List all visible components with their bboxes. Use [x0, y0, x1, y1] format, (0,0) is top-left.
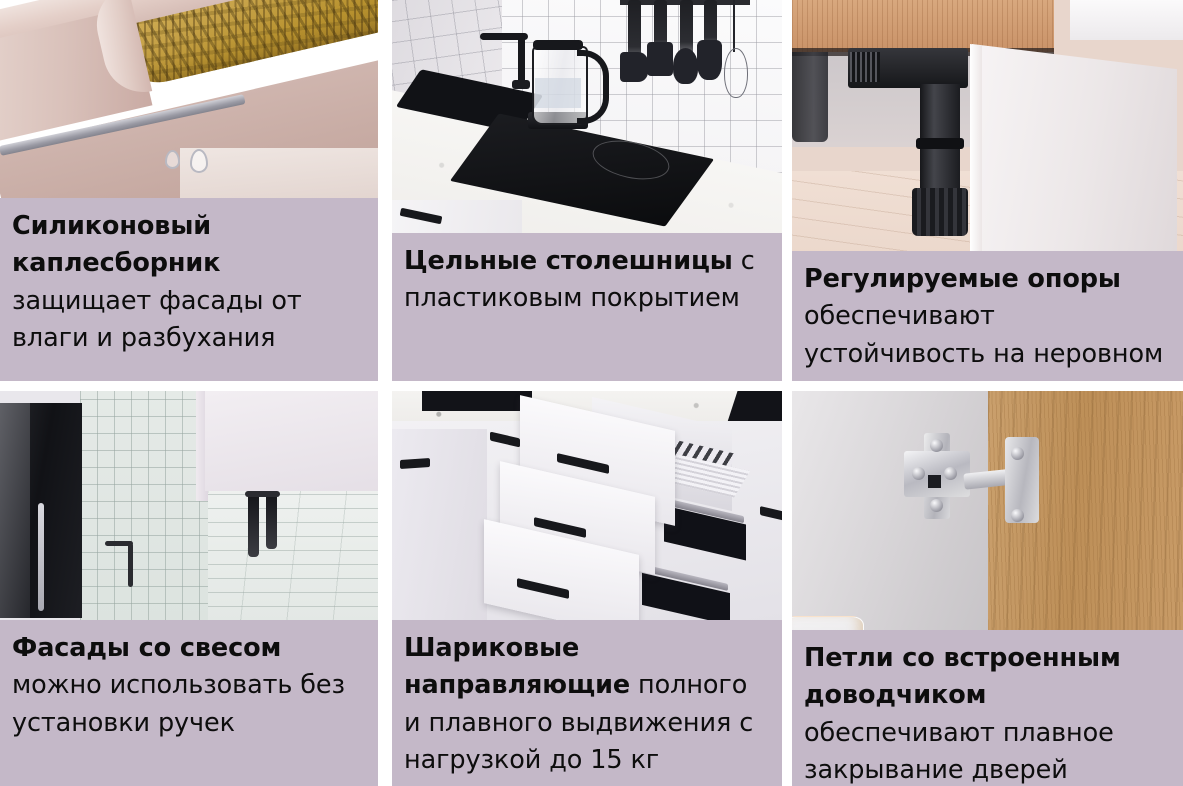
turner-head: [647, 42, 673, 76]
leg-foot: [912, 188, 968, 236]
water-drop-icon: [165, 150, 180, 169]
screw-icon: [912, 467, 925, 480]
secondary-cabinet-leg: [792, 52, 828, 142]
card-caption: Регулируемые опоры обеспечивают устойчив…: [792, 251, 1183, 381]
caption-rest-text: обеспечивают устойчивость на неровном по…: [804, 301, 1163, 381]
caption-rest-text: обеспечивают плавное закрывание дверей: [804, 718, 1114, 785]
feature-card-soft-close-hinges[interactable]: Петли со встроенным доводчиком обеспечив…: [792, 391, 1183, 786]
upper-cabinet: [205, 391, 378, 491]
leg-bracket-ribs: [850, 52, 880, 82]
whisk-utensil-icon: [722, 0, 748, 100]
spatula-head: [620, 52, 648, 82]
leg-adjustment-ring: [916, 138, 964, 149]
caption-bold-text: Цельные столешницы: [404, 246, 733, 276]
kettle-lid: [533, 40, 583, 50]
screw-icon: [944, 467, 957, 480]
card-caption: Цельные столешницы с пластиковым покрыти…: [392, 233, 782, 381]
card-caption: Шариковые направляющие полного и плавног…: [392, 620, 782, 786]
screw-icon: [1011, 447, 1024, 460]
feature-cards-grid: Силиконовый каплесборник защищает фасады…: [0, 0, 1183, 786]
hanging-towel: [248, 497, 259, 557]
screw-icon: [930, 439, 943, 452]
hob-edge: [422, 391, 532, 411]
wood-cabinet-bottom: [792, 0, 1054, 52]
faucet-base: [512, 80, 530, 89]
white-plinth-panel: [972, 44, 1177, 279]
white-cabinet-top: [1070, 0, 1183, 40]
refrigerator-side-panel: [0, 403, 30, 618]
caption-bold-text: Силиконовый каплесборник: [12, 211, 220, 278]
faucet-post: [518, 36, 525, 84]
plinth-edge: [970, 44, 982, 257]
feature-card-silicone-drip-catcher[interactable]: Силиконовый каплесборник защищает фасады…: [0, 0, 378, 381]
backsplash-tiles-left: [80, 391, 208, 621]
caption-rest-text: можно использовать без установки ручек: [12, 670, 345, 737]
water-drop-icon: [190, 149, 208, 173]
caption-bold-text: Петли со встроенным доводчиком: [804, 643, 1121, 710]
side-cabinet-door: [392, 429, 487, 621]
caption-bold-text: Шариковые направляющие: [404, 633, 630, 700]
backsplash-tiles-right: [208, 486, 378, 621]
refrigerator-handle: [38, 503, 44, 611]
caption-bold-text: Фасады со свесом: [12, 633, 281, 663]
screw-icon: [1011, 509, 1024, 522]
kettle-water: [535, 78, 581, 108]
hinge-adjustment-hole: [928, 475, 941, 488]
hanging-towel: [266, 497, 277, 549]
card-caption: Силиконовый каплесборник защищает фасады…: [0, 198, 378, 381]
caption-bold-text: Регулируемые опоры: [804, 264, 1121, 294]
hob-edge: [726, 391, 782, 425]
ladle-head: [697, 40, 722, 80]
feature-card-solid-worktops[interactable]: Цельные столешницы с пластиковым покрыти…: [392, 0, 782, 381]
caption-rest-text: защищает фасады от влаги и разбухания: [12, 286, 302, 353]
faucet-post: [128, 543, 133, 587]
spoon-head: [673, 48, 698, 84]
kettle-handle: [577, 50, 609, 124]
feature-card-handleless-fronts[interactable]: Фасады со свесом можно использовать без …: [0, 391, 378, 786]
feature-card-ball-bearing-slides[interactable]: Шариковые направляющие полного и плавног…: [392, 391, 782, 786]
feature-card-adjustable-legs[interactable]: Регулируемые опоры обеспечивают устойчив…: [792, 0, 1183, 381]
screw-icon: [930, 499, 943, 512]
card-caption: Фасады со свесом можно использовать без …: [0, 620, 378, 786]
card-caption: Петли со встроенным доводчиком обеспечив…: [792, 630, 1183, 786]
